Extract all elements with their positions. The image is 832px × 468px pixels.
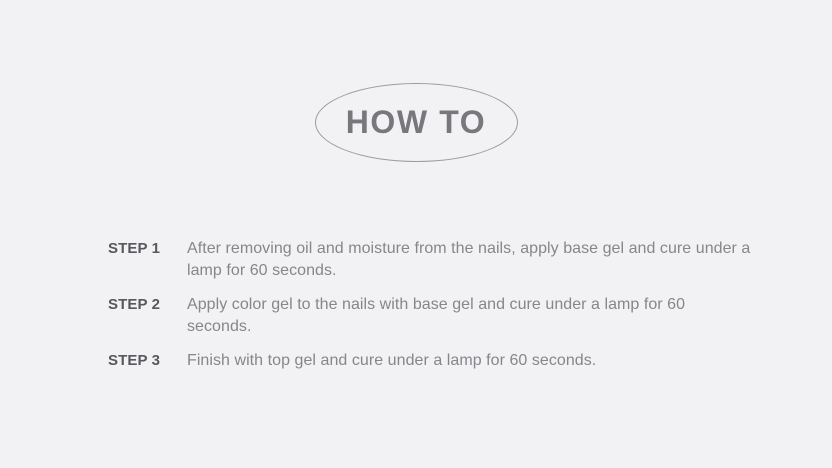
- step-label-1: STEP 1: [108, 238, 187, 260]
- list-item: STEP 1 After removing oil and moisture f…: [108, 238, 788, 282]
- step-description-3: Finish with top gel and cure under a lam…: [187, 350, 787, 372]
- page-title: HOW TO: [346, 106, 487, 140]
- steps-list: STEP 1 After removing oil and moisture f…: [108, 238, 788, 372]
- step-label-2: STEP 2: [108, 294, 187, 316]
- list-item: STEP 2 Apply color gel to the nails with…: [108, 294, 788, 338]
- step-description-2: Apply color gel to the nails with base g…: [187, 294, 743, 338]
- list-item: STEP 3 Finish with top gel and cure unde…: [108, 350, 788, 372]
- how-to-slide: HOW TO STEP 1 After removing oil and moi…: [0, 0, 832, 468]
- title-badge-container: HOW TO: [0, 83, 832, 162]
- step-description-1: After removing oil and moisture from the…: [187, 238, 765, 282]
- title-ellipse-outline: HOW TO: [315, 83, 518, 162]
- step-label-3: STEP 3: [108, 350, 187, 372]
